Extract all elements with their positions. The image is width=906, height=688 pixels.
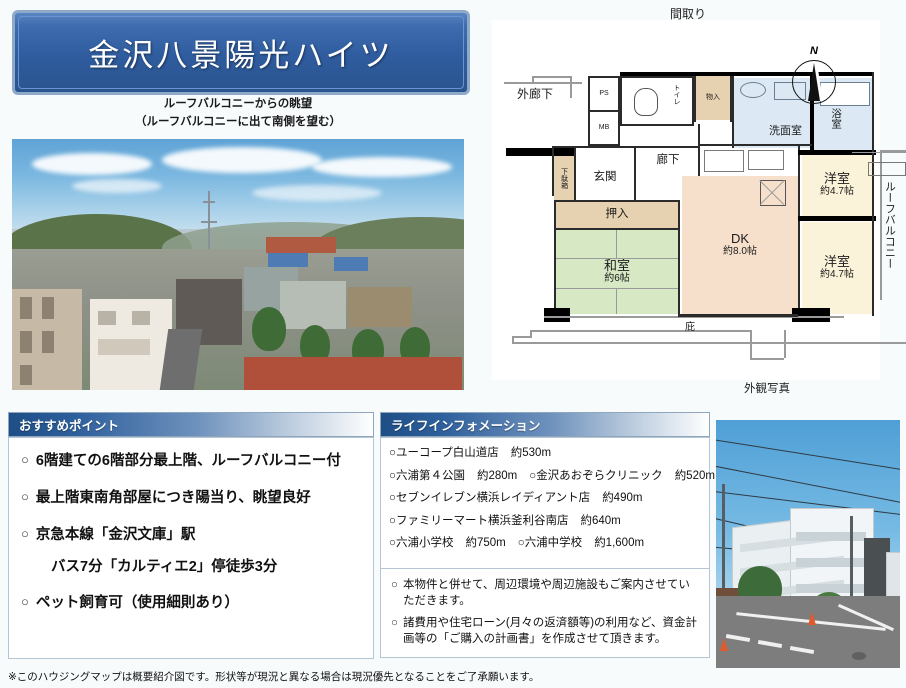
bullet-marker-icon: ○ — [21, 489, 29, 505]
point-text: 6階建ての6階部分最上階、ルーフバルコニー付 — [36, 452, 341, 470]
life-info-row: ○ファミリーマート横浜釜利谷南店約640m — [389, 516, 709, 528]
bullet-marker-icon: ○ — [389, 447, 396, 459]
life-info-row: ○六浦小学校約750m○六浦中学校約1,600m — [389, 538, 709, 550]
compass-north-label: N — [810, 45, 818, 57]
cloud — [162, 147, 322, 173]
room-label-shoebox: 下駄箱 — [560, 168, 567, 189]
recommended-points-header: おすすめポイント — [8, 412, 374, 437]
listing-page: 金沢八景陽光ハイツ ルーフバルコニーからの眺望 （ルーフバルコニーに出て南側を望… — [0, 0, 906, 688]
view-caption-line2: （ルーフバルコニーに出て南側を望む） — [12, 114, 464, 132]
facility-name: 六浦小学校 — [396, 537, 454, 549]
building — [348, 287, 412, 327]
cloud — [312, 157, 452, 177]
room-label-bath: 浴室 — [830, 108, 842, 129]
facility-distance: 約520m — [675, 470, 715, 482]
building-exterior-photo — [716, 420, 900, 668]
view-caption-line1: ルーフバルコニーからの眺望 — [12, 96, 464, 114]
room-label-oshiire: 押入 — [606, 208, 629, 221]
facility-distance: 約530m — [511, 447, 551, 459]
bullet-marker-icon: ○ — [389, 515, 396, 527]
street — [716, 596, 900, 668]
room-label-eave-south: 庇 — [685, 322, 695, 334]
balcony-rail — [796, 558, 866, 567]
bullet-marker-icon: ○ — [391, 578, 398, 594]
room-label-hallway: 廊下 — [657, 154, 680, 167]
life-info-row: ○ユーコープ白山道店約530m — [389, 448, 709, 460]
window — [20, 331, 32, 353]
room-label-yoshitsu-north: 洋室 — [824, 172, 850, 187]
room-label-entrance: 玄関 — [594, 171, 617, 184]
room-label-washroom: 洗面室 — [769, 125, 802, 138]
facility-distance: 約640m — [580, 515, 620, 527]
window — [42, 297, 54, 319]
traffic-cone — [720, 638, 728, 651]
building — [280, 281, 346, 329]
facility-name: 金沢あおぞらクリニック — [536, 470, 663, 482]
room-label-ps: PS — [599, 90, 608, 97]
compass-needle-dark — [808, 63, 820, 101]
recommended-points-title: おすすめポイント — [9, 415, 119, 434]
room-label-roof-balcony: ルーフバルコニー — [883, 181, 896, 269]
point-item: ○ 6階建ての6階部分最上階、ルーフバルコニー付 — [21, 452, 363, 470]
bullet-marker-icon: ○ — [21, 594, 29, 610]
room-label-storage: 物入 — [706, 94, 720, 101]
room-size-washitsu: 約6帖 — [604, 273, 630, 285]
room-label-yoshitsu-south: 洋室 — [824, 255, 850, 270]
roof — [334, 257, 368, 271]
room-label-dk: DK — [731, 232, 749, 247]
red-roof — [244, 357, 462, 390]
point-item: ○ ペット飼育可（使用細則あり） — [21, 594, 363, 612]
life-information-body: ○ユーコープ白山道店約530m ○六浦第４公園約280m○金沢あおぞらクリニック… — [380, 437, 710, 580]
note-text: 本物件と併せて、周辺環境や周辺施設もご案内させていただきます。 — [403, 578, 699, 609]
traffic-cone — [808, 612, 816, 625]
note-item: ○ 諸費用や住宅ローン(月々の返済額等)の利用など、資金計画等の「ご購入の計画書… — [391, 616, 699, 647]
bullet-marker-icon: ○ — [389, 537, 396, 549]
agent-notes-panel: ○ 本物件と併せて、周辺環境や周辺施設もご案内させていただきます。 ○ 諸費用や… — [380, 568, 710, 658]
life-information-panel: ライフインフォメーション ○ユーコープ白山道店約530m ○六浦第４公園約280… — [380, 412, 710, 580]
facility-name: 六浦第４公園 — [396, 470, 465, 482]
balcony-view-photo — [12, 139, 464, 390]
window — [20, 365, 32, 385]
cloud — [32, 153, 152, 175]
point-item: ○ 京急本線「金沢文庫」駅 — [21, 526, 363, 544]
point-text: ペット飼育可（使用細則あり） — [36, 594, 239, 612]
bullet-marker-icon: ○ — [21, 526, 29, 542]
point-text: 最上階東南角部屋につき陽当り、眺望良好 — [36, 489, 311, 507]
compass-rose-icon: N — [792, 60, 836, 104]
room-size-yoshitsu-north: 約4.7帖 — [820, 186, 854, 198]
recommended-points-body: ○ 6階建ての6階部分最上階、ルーフバルコニー付 ○ 最上階東南角部屋につき陽当… — [8, 437, 374, 659]
window — [132, 311, 150, 325]
view-photo-caption: ルーフバルコニーからの眺望 （ルーフバルコニーに出て南側を望む） — [12, 96, 464, 132]
bullet-marker-icon: ○ — [389, 470, 396, 482]
point-text: 京急本線「金沢文庫」駅 — [36, 526, 196, 544]
life-info-row: ○セブンイレブン横浜レイディアント店約490m — [389, 493, 709, 505]
note-text: 諸費用や住宅ローン(月々の返済額等)の利用など、資金計画等の「ご購入の計画書」を… — [403, 616, 699, 647]
cloud — [72, 179, 162, 193]
facility-distance: 約750m — [465, 537, 505, 549]
facility-name: ファミリーマート横浜釜利谷南店 — [396, 515, 569, 527]
transmission-tower — [208, 191, 210, 251]
bullet-marker-icon: ○ — [518, 537, 525, 549]
facility-distance: 約1,600m — [594, 537, 644, 549]
balcony-rail — [796, 532, 866, 541]
exterior-photo-label: 外観写真 — [744, 380, 790, 396]
room-label-outer-corridor: 外廊下 — [517, 88, 553, 102]
facility-name: 六浦中学校 — [525, 537, 583, 549]
window — [20, 297, 32, 319]
window — [42, 331, 54, 353]
note-item: ○ 本物件と併せて、周辺環境や周辺施設もご案内させていただきます。 — [391, 578, 699, 609]
bullet-marker-icon: ○ — [389, 492, 396, 504]
room-size-yoshitsu-south: 約4.7帖 — [820, 269, 854, 281]
room-size-dk: 約8.0帖 — [723, 246, 757, 258]
roof — [266, 237, 336, 253]
property-title-banner: 金沢八景陽光ハイツ — [12, 10, 470, 95]
manhole — [852, 652, 866, 660]
room-label-toilet: トイレ — [673, 84, 680, 105]
life-information-header: ライフインフォメーション — [380, 412, 710, 437]
bullet-marker-icon: ○ — [21, 452, 29, 468]
floorplan-diagram: 外廊下 PS MB トイレ 物入 — [492, 20, 880, 380]
life-info-row: ○六浦第４公園約280m○金沢あおぞらクリニック約520m — [389, 471, 709, 483]
room-label-mb: MB — [599, 124, 610, 131]
facility-distance: 約280m — [477, 470, 517, 482]
agent-notes-body: ○ 本物件と併せて、周辺環境や周辺施設もご案内させていただきます。 ○ 諸費用や… — [380, 568, 710, 658]
recommended-points-panel: おすすめポイント ○ 6階建ての6階部分最上階、ルーフバルコニー付 ○ 最上階東… — [8, 412, 374, 659]
map-disclaimer: ※このハウジングマップは概要紹介図です。形状等が現況と異なる場合は現況優先となる… — [8, 669, 898, 684]
window — [98, 311, 116, 325]
facility-name: セブンイレブン横浜レイディアント店 — [396, 492, 590, 504]
point-item: ○ 最上階東南角部屋につき陽当り、眺望良好 — [21, 489, 363, 507]
facility-name: ユーコープ白山道店 — [396, 447, 499, 459]
room-label-washitsu: 和室 — [604, 259, 630, 274]
page-title: 金沢八景陽光ハイツ — [88, 30, 393, 75]
tree — [252, 307, 286, 351]
bullet-marker-icon: ○ — [391, 616, 398, 632]
facility-distance: 約490m — [602, 492, 642, 504]
life-information-title: ライフインフォメーション — [381, 415, 540, 434]
balcony — [98, 339, 150, 355]
cloud — [252, 185, 382, 201]
point-sub-text: バス7分「カルティエ2」停徒歩3分 — [51, 555, 363, 576]
